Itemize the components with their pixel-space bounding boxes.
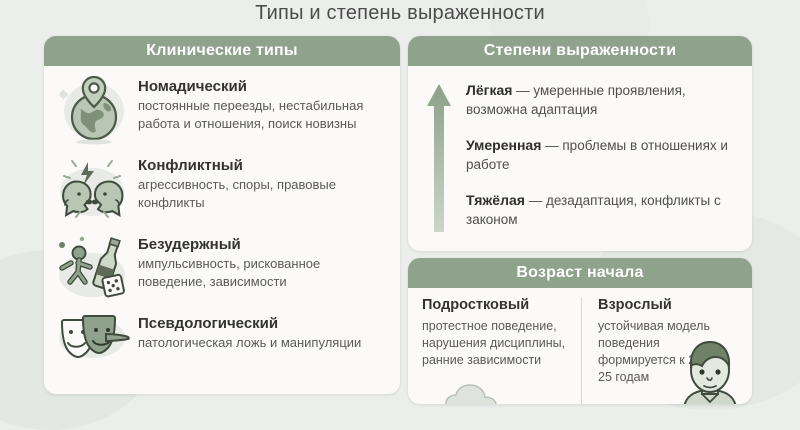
list-item-text: Безудержный импульсивность, рискованное …: [138, 231, 388, 291]
type-name: Конфликтный: [138, 157, 388, 174]
severity-dash: —: [525, 193, 546, 208]
type-name: Безудержный: [138, 236, 388, 253]
age-group-name: Взрослый: [598, 297, 728, 313]
globe-pin-icon: [54, 73, 130, 145]
page-title: Типы и степень выраженности: [0, 2, 800, 25]
age-group-name: Подростковый: [422, 297, 569, 313]
list-item: Конфликтный агрессивность, споры, правов…: [54, 152, 388, 224]
age-group-description: протестное поведение, нарушения дисципли…: [422, 318, 569, 369]
list-item: Псевдологический патологическая ложь и м…: [54, 310, 388, 364]
severity-line: Лёгкая — умеренные проявления, возможна …: [466, 81, 738, 119]
severity-level: Лёгкая: [466, 82, 512, 98]
running-bottle-dice-icon: [54, 231, 130, 303]
type-description: постоянные переезды, нестабильная работа…: [138, 97, 388, 133]
clinical-types-list: Номадический постоянные переезды, нестаб…: [44, 66, 400, 364]
list-item: Лёгкая — умеренные проявления, возможна …: [466, 81, 738, 119]
list-item: Номадический постоянные переезды, нестаб…: [54, 73, 388, 145]
clinical-types-card: Клинические типы Номадический постоянные…: [44, 36, 400, 394]
list-item: Безудержный импульсивность, рискованное …: [54, 231, 388, 303]
arguing-heads-icon: [54, 152, 130, 224]
list-item-text: Конфликтный агрессивность, споры, правов…: [138, 152, 388, 212]
man-face-icon: [672, 336, 748, 404]
list-item: Тяжёлая — дезадаптация, конфликты с зако…: [466, 191, 738, 229]
severity-card: Степени выраженности Лёгкая — умеренные …: [408, 36, 752, 251]
up-arrow-icon: [426, 80, 452, 239]
clinical-types-header: Клинические типы: [44, 36, 400, 66]
severity-header: Степени выраженности: [408, 36, 752, 66]
type-description: импульсивность, рискованное поведение, з…: [138, 255, 388, 291]
severity-body: Лёгкая — умеренные проявления, возможна …: [408, 66, 752, 249]
type-description: агрессивность, споры, правовые конфликты: [138, 176, 388, 212]
onset-age-body: Подростковый протестное поведение, наруш…: [408, 288, 752, 404]
onset-age-card: Возраст начала Подростковый протестное п…: [408, 258, 752, 404]
severity-line: Тяжёлая — дезадаптация, конфликты с зако…: [466, 191, 738, 229]
type-name: Псевдологический: [138, 315, 361, 332]
onset-age-header: Возраст начала: [408, 258, 752, 288]
severity-list: Лёгкая — умеренные проявления, возможна …: [466, 80, 738, 239]
severity-level: Умеренная: [466, 137, 541, 153]
severity-level: Тяжёлая: [466, 192, 525, 208]
list-item: Умеренная — проблемы в отношениях и рабо…: [466, 136, 738, 174]
severity-dash: —: [541, 138, 562, 153]
type-name: Номадический: [138, 78, 388, 95]
cloud-shape-icon: [444, 384, 522, 404]
list-item-text: Номадический постоянные переезды, нестаб…: [138, 73, 388, 133]
severity-line: Умеренная — проблемы в отношениях и рабо…: [466, 136, 738, 174]
theater-masks-icon: [54, 310, 130, 364]
list-item-text: Псевдологический патологическая ложь и м…: [138, 310, 361, 352]
type-description: патологическая ложь и манипуляции: [138, 334, 361, 352]
severity-dash: —: [512, 83, 533, 98]
